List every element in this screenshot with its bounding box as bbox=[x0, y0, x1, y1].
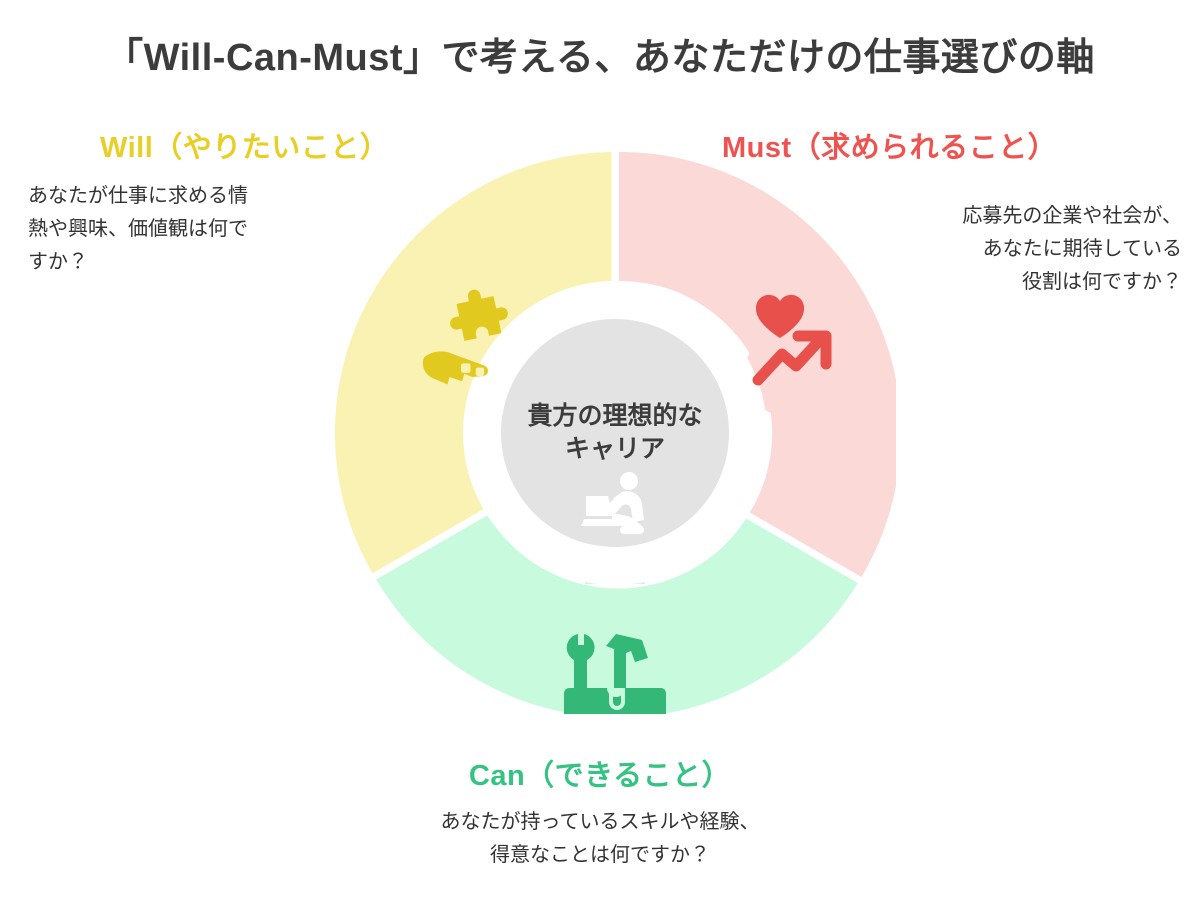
will-heading: Will（やりたいこと） bbox=[100, 124, 389, 166]
must-description-line: 応募先の企業や社会が、 bbox=[852, 200, 1182, 233]
will-description-line: すか？ bbox=[28, 246, 348, 279]
donut-ring-svg bbox=[334, 152, 896, 714]
will-can-must-donut-diagram bbox=[334, 152, 896, 714]
can-heading: Can（できること） bbox=[0, 752, 1200, 794]
can-description-line: あなたが持っているスキルや経験、 bbox=[300, 806, 900, 839]
will-description-line: 熱や興味、価値観は何で bbox=[28, 213, 348, 246]
must-description-line: あなたに期待している bbox=[852, 233, 1182, 266]
must-description-line: 役割は何ですか？ bbox=[852, 266, 1182, 299]
must-heading: Must（求められること） bbox=[722, 124, 1057, 166]
can-description-line: 得意なことは何ですか？ bbox=[300, 839, 900, 872]
will-description-line: あなたが仕事に求める情 bbox=[28, 180, 348, 213]
page-title: 「Will-Can-Must」で考える、あなただけの仕事選びの軸 bbox=[0, 26, 1200, 81]
can-description: あなたが持っているスキルや経験、 得意なことは何ですか？ bbox=[300, 806, 900, 872]
must-description: 応募先の企業や社会が、 あなたに期待している 役割は何ですか？ bbox=[852, 200, 1182, 299]
will-description: あなたが仕事に求める情 熱や興味、価値観は何で すか？ bbox=[28, 180, 348, 279]
